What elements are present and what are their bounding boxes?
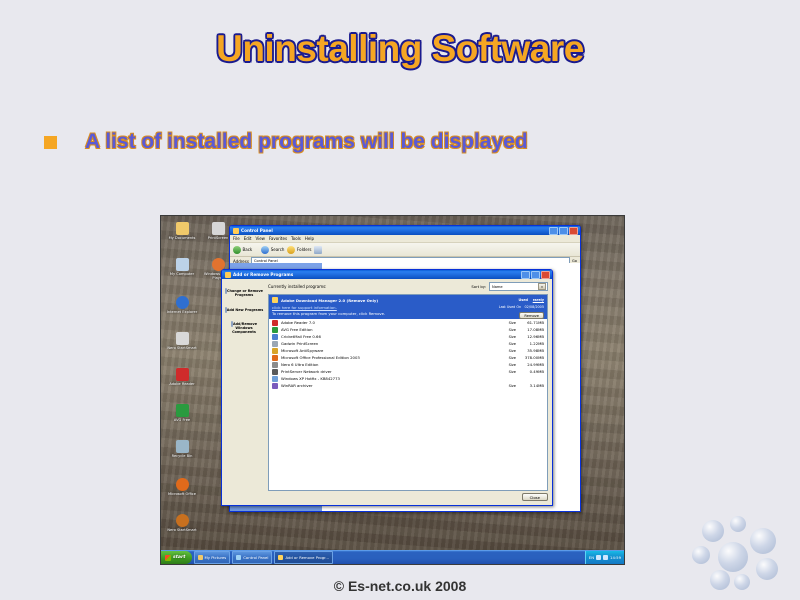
arp-change-or-remove-programs[interactable]: Change or Remove Programs [223,289,265,298]
desktop-icon-nero[interactable]: Nero StartSmart [165,332,199,350]
desktop-icon-label: AVG Free [174,418,190,422]
system-tray[interactable]: EN 14:59 [585,551,624,564]
program-name: Microsoft Office Professional Edition 20… [281,355,360,360]
folders-icon [287,246,295,254]
views-icon [314,246,322,254]
desktop-icon-label: My Computer [170,272,194,276]
program-list-item[interactable]: Windows XP Hotfix - KB842773 [269,375,547,382]
office-icon [176,478,189,491]
maximize-button[interactable] [559,227,568,235]
program-name: CricketMail Free 0.66 [281,334,321,339]
taskbar-button-label: My Pictures [205,555,227,560]
support-information-link[interactable]: click here for support information. [272,305,337,310]
desktop-icon-label: My Documents [169,236,196,240]
size-label: Size [509,342,518,346]
views-button[interactable] [314,246,322,254]
selected-program-name: Adobe Download Manager 2.0 (Remove Only) [281,298,378,303]
arp-footer: Close [268,491,548,501]
start-button[interactable]: start [161,551,192,564]
desktop-icon-microsoft-office[interactable]: Microsoft Office [165,478,199,496]
installed-programs-list[interactable]: Adobe Download Manager 2.0 (Remove Only)… [268,294,548,491]
avg-icon [176,404,189,417]
desktop-icon-recycle-bin[interactable]: Recycle Bin [165,440,199,458]
taskbar-button-label: Control Panel [243,555,268,560]
arp-title: Add or Remove Programs [233,272,293,277]
recycle-bin-icon [176,440,189,453]
folders-button[interactable]: Folders [287,246,311,254]
arp-header-row: Currently installed programs: Sort by: N… [268,282,548,291]
menu-view[interactable]: View [255,236,265,241]
size-label: Size [509,349,518,353]
bubble [718,542,748,572]
program-name: Microsoft AntiSpyware [281,348,323,353]
program-list-item[interactable]: WinRAR archiver Size 3.14MB [269,382,547,389]
desktop-icon-my-computer[interactable]: My Computer [165,258,199,276]
used-label: Used [518,298,528,302]
search-label: Search [271,247,285,252]
arp-titlebar[interactable]: Add or Remove Programs [222,270,552,279]
office-icon [272,355,278,361]
folders-label: Folders [297,247,311,252]
start-label: start [173,555,186,560]
add-or-remove-programs-window[interactable]: Add or Remove Programs Change or Remove … [221,269,553,506]
taskbar-button-my-pictures[interactable]: My Pictures [194,551,231,564]
size-label: Size [509,335,518,339]
computer-icon [176,258,189,271]
program-name: Gadwin PrintScreen [281,341,318,346]
back-label: Back [243,247,253,252]
decorative-bubbles [664,516,794,596]
taskbar-button-add-remove-programs[interactable]: Add or Remove Progr... [274,551,333,564]
search-button[interactable]: Search [261,246,284,254]
desktop-icon-label: Internet Explorer [167,310,197,314]
adobe-reader-icon [272,320,278,326]
desktop-icon-label: PrintScreen [208,236,229,240]
arp-sidebar-label: Change or Remove Programs [227,289,263,297]
control-panel-menubar[interactable]: File Edit View Favorites Tools Help [230,235,580,243]
bubble [710,570,730,590]
close-button[interactable]: Close [522,493,548,501]
remove-hint-text: To remove this program from your compute… [272,311,385,316]
selected-program-row: Adobe Download Manager 2.0 (Remove Only)… [272,297,544,303]
arp-icon [278,555,283,560]
arp-maximize-button[interactable] [531,271,540,279]
bullet-marker-icon [44,136,57,149]
program-size: 61.71MB [518,320,544,325]
windows-flag-icon [165,555,171,561]
arp-add-remove-windows-components[interactable]: Add/Remove Windows Components [223,322,265,335]
search-icon [261,246,269,254]
bullet-item-label: A list of installed programs will be dis… [85,130,528,154]
clock[interactable]: 14:59 [610,555,621,560]
printscreen-icon [212,222,225,235]
menu-tools[interactable]: Tools [291,236,301,241]
program-name: PrintServer Network driver [281,369,332,374]
sort-by-select[interactable]: Name ▾ [489,282,548,291]
program-icon [272,297,278,303]
desktop-icon-adobe-reader[interactable]: Adobe Reader [165,368,199,386]
currently-installed-label: Currently installed programs: [268,284,327,289]
program-list-item[interactable]: AVG Free Edition Size 17.08MB [269,326,547,333]
bubble [750,528,776,554]
control-panel-icon [233,228,239,234]
nero-startsmart-icon [176,514,189,527]
arp-icon [225,272,231,278]
size-label: Size [509,363,518,367]
program-size: 3.14MB [518,383,544,388]
folder-icon [198,555,203,560]
avg-icon [272,327,278,333]
tray-icon[interactable] [603,555,608,560]
printserver-icon [272,369,278,375]
arp-body: Change or Remove Programs Add New Progra… [222,279,552,505]
program-name: Windows XP Hotfix - KB842773 [281,376,340,381]
last-used-value: 02/08/2005 [524,305,544,309]
desktop-icon-label: Microsoft Office [168,492,196,496]
folder-icon [176,222,189,235]
program-list-item[interactable]: Gadwin PrintScreen Size 1.22MB [269,340,547,347]
arp-window-buttons[interactable] [521,271,550,279]
size-label: Size [509,321,518,325]
program-size: 24.99MB [518,362,544,367]
size-label: Size [509,328,518,332]
sort-by-value: Name [492,285,503,289]
desktop-icon-label: Adobe Reader [169,382,194,386]
program-name: Nero 6 Ultra Edition [281,362,318,367]
selected-program-entry[interactable]: Adobe Download Manager 2.0 (Remove Only)… [269,295,547,319]
bubble [734,574,750,590]
desktop-icon-nero-startsmart[interactable]: Nero StartSmart [165,514,199,532]
program-size: 1.22MB [518,341,544,346]
arp-sidebar[interactable]: Change or Remove Programs Add New Progra… [222,279,266,505]
used-value: rarely [533,298,544,302]
menu-favorites[interactable]: Favorites [269,236,287,241]
nero-icon [272,362,278,368]
window-buttons[interactable] [549,227,578,235]
program-size: 12.96MB [518,334,544,339]
adobe-reader-icon [176,368,189,381]
minimize-button[interactable] [549,227,558,235]
program-list-item[interactable]: PrintServer Network driver Size 0.49MB [269,368,547,375]
language-indicator[interactable]: EN [589,555,594,560]
program-list-item[interactable]: Microsoft Office Professional Edition 20… [269,354,547,361]
arp-sidebar-label: Add New Programs [227,308,264,312]
size-label: Size [509,356,518,360]
bubble [756,558,778,580]
selected-program-remove-row: To remove this program from your compute… [272,311,544,316]
back-button[interactable]: Back [233,246,252,254]
taskbar-button-control-panel[interactable]: Control Panel [232,551,272,564]
desktop-icon-my-documents[interactable]: My Documents [165,222,199,240]
program-list-item[interactable]: Adobe Reader 7.0 Size 61.71MB [269,319,547,326]
winrar-icon [272,383,278,389]
control-panel-icon [236,555,241,560]
selected-program-usage: Used rarely [518,298,544,302]
bubble [692,546,710,564]
embedded-screenshot: My Documents PrintScreen My Computer Win… [160,215,625,565]
arp-main: Currently installed programs: Sort by: N… [266,279,552,505]
menu-help[interactable]: Help [305,236,314,241]
program-name: AVG Free Edition [281,327,313,332]
chevron-down-icon[interactable]: ▾ [538,283,546,290]
close-button[interactable] [569,227,578,235]
arp-minimize-button[interactable] [521,271,530,279]
desktop-icon-internet-explorer[interactable]: Internet Explorer [165,296,199,314]
program-size: 17.08MB [518,327,544,332]
program-name: Adobe Reader 7.0 [281,320,315,325]
bullet-list-item: A list of installed programs will be dis… [44,130,528,154]
program-list-item[interactable]: Microsoft AntiSpyware Size 35.98MB [269,347,547,354]
sort-by-label: Sort by: [471,284,486,289]
arp-sidebar-label: Add/Remove Windows Components [232,322,257,335]
nero-icon [176,332,189,345]
program-list-item[interactable]: Nero 6 Ultra Edition Size 24.99MB [269,361,547,368]
gadwin-printscreen-icon [272,341,278,347]
last-used-label: Last Used On [499,305,522,309]
page-title: Uninstalling Software [0,28,800,70]
bubble [730,516,746,532]
cricketmail-icon [272,334,278,340]
desktop-icon-label: Nero StartSmart [167,346,196,350]
taskbar[interactable]: start My Pictures Control Panel Add or R… [161,550,624,564]
desktop-icon-avg-free[interactable]: AVG Free [165,404,199,422]
selected-program-support-row: click here for support information. Last… [272,305,544,310]
tray-icon[interactable] [596,555,601,560]
arp-add-new-programs[interactable]: Add New Programs [223,308,265,312]
program-size: 35.98MB [518,348,544,353]
desktop-icon-label: Nero StartSmart [167,528,196,532]
program-list-item[interactable]: CricketMail Free 0.66 Size 12.96MB [269,333,547,340]
program-name: WinRAR archiver [281,383,313,388]
bubble [702,520,724,542]
menu-file[interactable]: File [233,236,240,241]
arp-close-button[interactable] [541,271,550,279]
antispyware-icon [272,348,278,354]
desktop-icon-label: Recycle Bin [172,454,193,458]
program-size: 0.49MB [518,369,544,374]
menu-edit[interactable]: Edit [244,236,252,241]
program-size: 378.00MB [518,355,544,360]
internet-explorer-icon [176,296,189,309]
back-arrow-icon [233,246,241,254]
size-label: Size [509,370,518,374]
control-panel-titlebar[interactable]: Control Panel [230,226,580,235]
remove-button[interactable]: Remove [519,312,544,319]
last-used-row: Last Used On 02/08/2005 [499,305,544,309]
control-panel-toolbar[interactable]: Back Search Folders [230,243,580,257]
taskbar-button-label: Add or Remove Progr... [285,555,329,560]
size-label: Size [509,384,518,388]
hotfix-icon [272,376,278,382]
control-panel-title: Control Panel [241,228,273,233]
